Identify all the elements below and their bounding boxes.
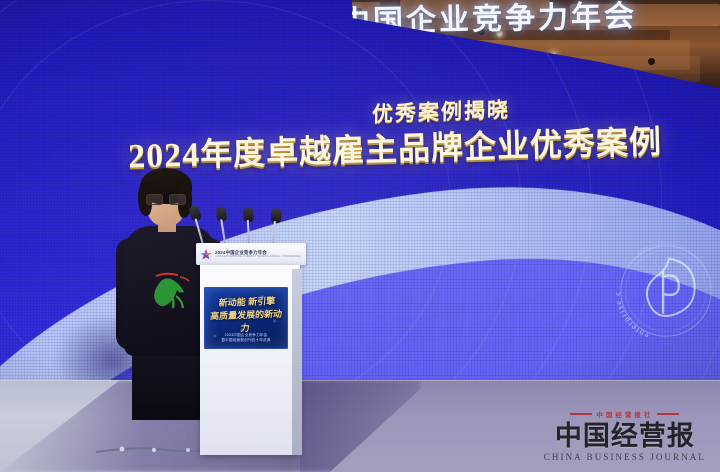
watermark-rule-right [657, 413, 679, 414]
podium-placard: 新动能 新引擎 高质量发展的新动力 2024中国企业竞争力年会 暨中国经营报创刊… [204, 287, 288, 349]
conference-logo-icon [200, 248, 212, 260]
watermark-small-text: 中国经营报社 [596, 409, 653, 419]
podium: 2024中国企业竞争力年会 CHINA ENTERPRISE COMPETITI… [196, 243, 306, 455]
sweater-graphic [150, 264, 196, 316]
watermark-main-text: 中国经营报 [544, 421, 706, 451]
watermark-english-text: CHINA BUSINESS JOURNAL [544, 452, 706, 462]
stage-photo: 中国企业竞争力年会 enterprise c [0, 0, 720, 472]
podium-nameplate-subtext: CHINA ENTERPRISE COMPETITIVENESS ANNUAL … [215, 255, 300, 258]
placard-sub-2: 暨中国经营报创刊四十年庆典 [209, 338, 283, 343]
watermark-rule-left [570, 413, 592, 414]
watermark: 中国经营报社 中国经营报 CHINA BUSINESS JOURNAL [544, 409, 706, 462]
podium-top-nameplate: 2024中国企业竞争力年会 CHINA ENTERPRISE COMPETITI… [196, 243, 306, 265]
speaker-glasses [146, 194, 186, 203]
